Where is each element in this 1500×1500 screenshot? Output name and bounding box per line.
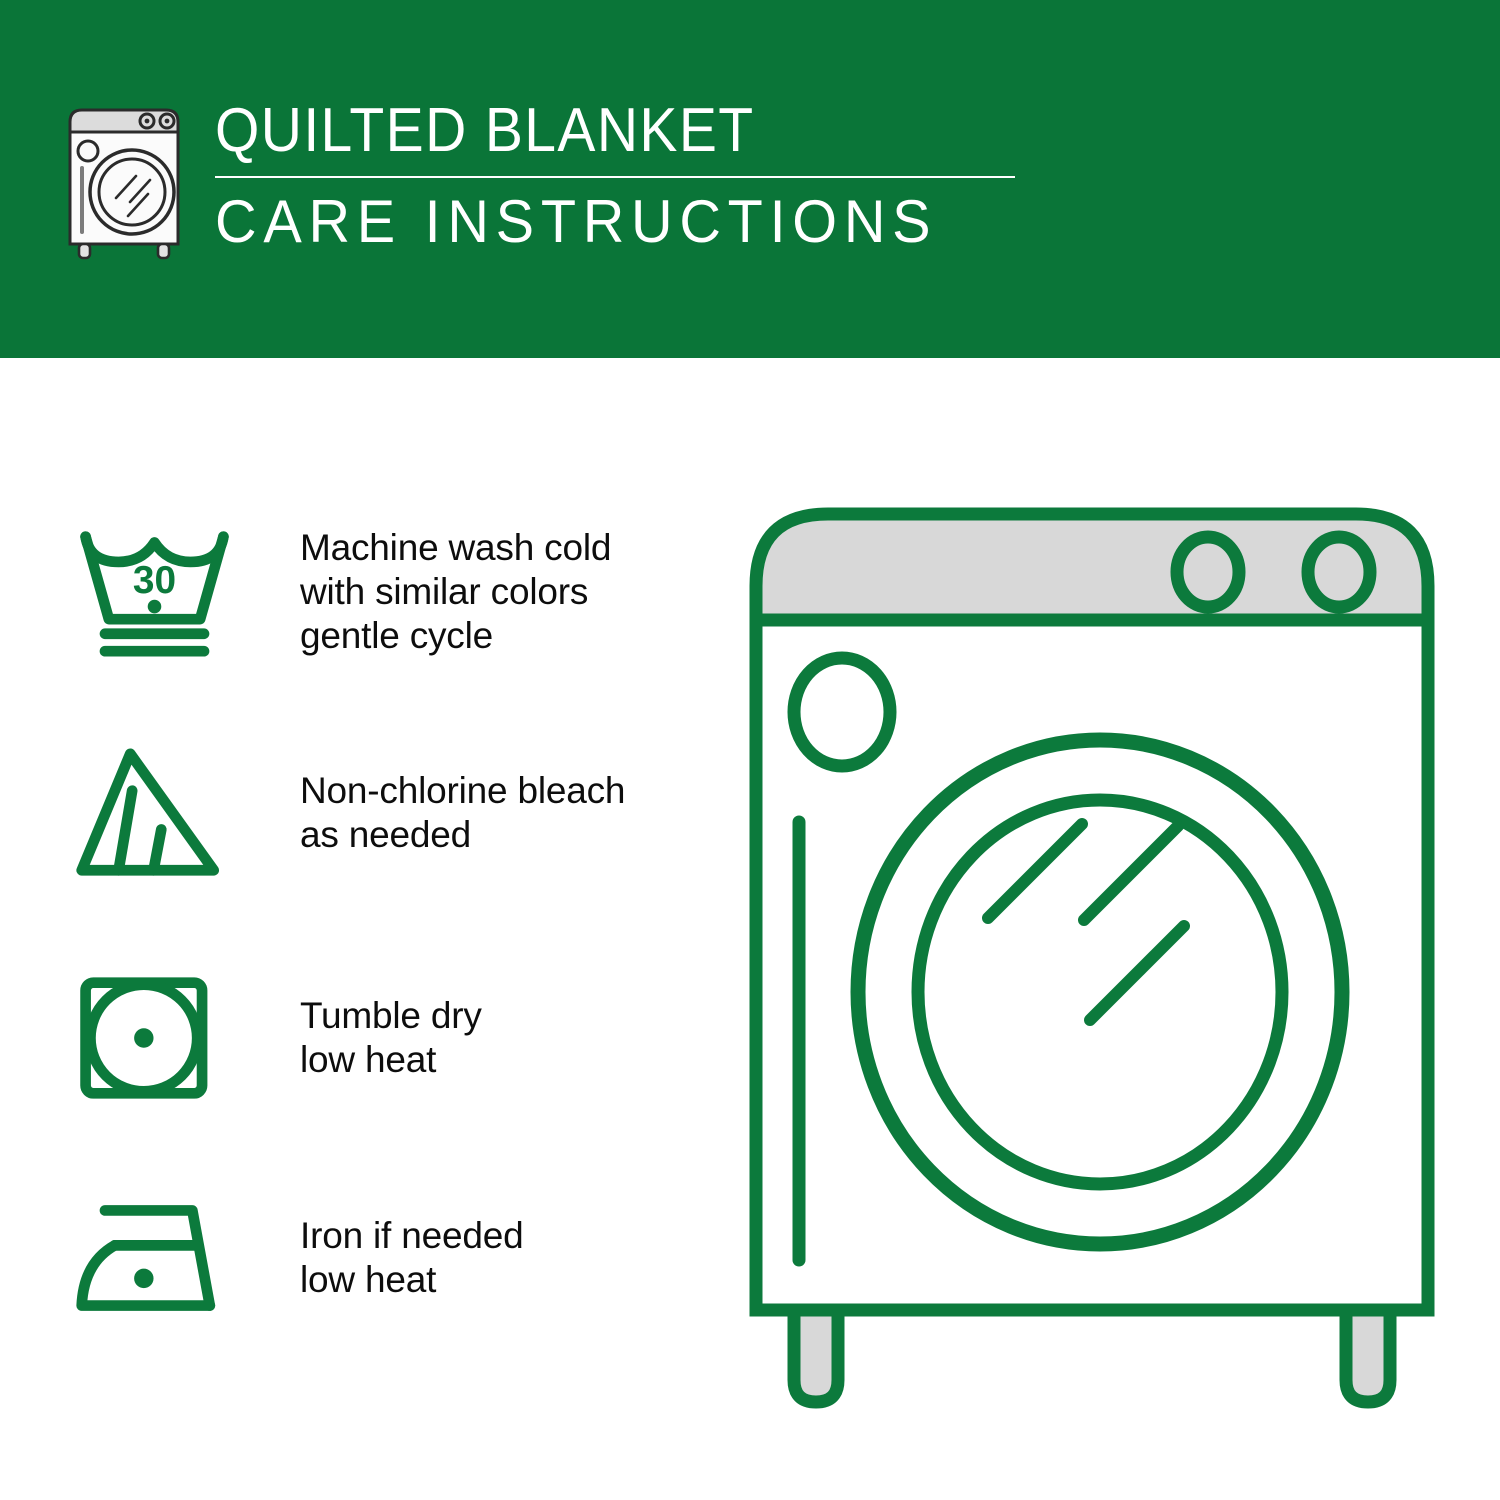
- instruction-row-wash: 30 Machine wash cold with similar colors…: [72, 512, 712, 672]
- instruction-text-iron: Iron if needed low heat: [237, 1214, 523, 1302]
- care-instructions-poster: QUILTED BLANKET CARE INSTRUCTIONS: [0, 0, 1500, 1500]
- instruction-list: 30 Machine wash cold with similar colors…: [0, 0, 720, 1500]
- instruction-line: Tumble dry: [300, 994, 482, 1038]
- instruction-line: gentle cycle: [300, 614, 611, 658]
- machine-wash-30-gentle-symbol: 30: [72, 517, 237, 667]
- machine-leg-left: [794, 1310, 838, 1402]
- instruction-row-bleach: Non-chlorine bleach as needed: [72, 738, 712, 888]
- instruction-row-tumble-dry: Tumble dry low heat: [72, 968, 712, 1108]
- front-load-washing-machine-illustration: [742, 500, 1452, 1420]
- tumble-dry-low-symbol: [72, 963, 237, 1113]
- wash-temperature-value: 30: [133, 559, 176, 602]
- instruction-text-bleach: Non-chlorine bleach as needed: [237, 769, 625, 857]
- instruction-line: low heat: [300, 1038, 482, 1082]
- instruction-line: Iron if needed: [300, 1214, 523, 1258]
- instruction-line: as needed: [300, 813, 625, 857]
- instruction-text-wash: Machine wash cold with similar colors ge…: [237, 526, 611, 658]
- instruction-line: Non-chlorine bleach: [300, 769, 625, 813]
- instruction-line: with similar colors: [300, 570, 611, 614]
- instruction-row-iron: Iron if needed low heat: [72, 1188, 712, 1328]
- instruction-line: low heat: [300, 1258, 523, 1302]
- iron-low-heat-symbol: [72, 1183, 237, 1333]
- machine-leg-right: [1346, 1310, 1390, 1402]
- non-chlorine-bleach-symbol: [72, 738, 237, 888]
- instruction-line: Machine wash cold: [300, 526, 611, 570]
- instruction-text-tumble-dry: Tumble dry low heat: [237, 994, 482, 1082]
